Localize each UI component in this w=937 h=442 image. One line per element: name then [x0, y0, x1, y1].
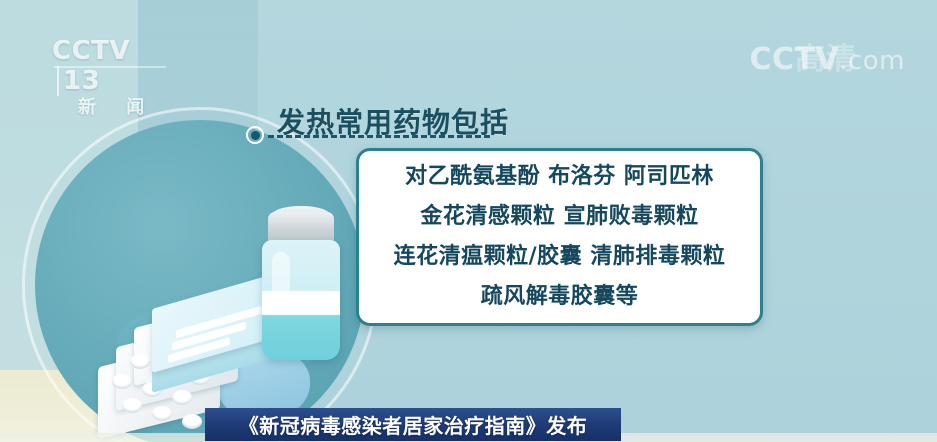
pill-icon	[112, 374, 132, 389]
pill-icon	[152, 406, 172, 421]
cctv-logo-text: CCTV	[52, 36, 130, 66]
heading-dashed-rule	[268, 135, 490, 138]
cctv-channel-number: 13	[57, 66, 104, 96]
pill-icon	[182, 414, 202, 429]
broadcast-frame: CCTV13 新 闻 高清 CCTV.com 发热常用药物包括 对乙酰氨基酚 布…	[0, 0, 937, 442]
cctv-logo-subtitle: 新 闻	[52, 96, 170, 120]
medicine-list-item: 金花清感颗粒 宣肺败毒颗粒	[420, 197, 698, 237]
pill-icon	[130, 354, 150, 369]
pill-icon	[122, 398, 142, 413]
cctv-com-watermark: 高清 CCTV.com	[749, 42, 905, 92]
cctv-logo-underline	[54, 66, 166, 68]
pill-icon	[172, 390, 192, 405]
medicine-list-item: 连花清瘟颗粒/胶囊 清肺排毒颗粒	[394, 237, 726, 277]
cctv13-channel-logo: CCTV13 新 闻	[52, 36, 170, 94]
bullet-dot-core-icon	[251, 131, 260, 140]
lower-third-banner: 《新冠病毒感染者居家治疗指南》发布	[205, 408, 621, 441]
banner-headline: 《新冠病毒感染者居家治疗指南》发布	[239, 410, 588, 439]
medicine-list-item: 疏风解毒胶囊等	[481, 277, 639, 317]
medicine-list-card: 对乙酰氨基酚 布洛芬 阿司匹林 金花清感颗粒 宣肺败毒颗粒 连花清瘟颗粒/胶囊 …	[356, 148, 763, 326]
medicine-list-item: 对乙酰氨基酚 布洛芬 阿司匹林	[405, 157, 714, 197]
vial-highlight	[272, 252, 290, 304]
hd-badge: 高清	[795, 34, 857, 78]
